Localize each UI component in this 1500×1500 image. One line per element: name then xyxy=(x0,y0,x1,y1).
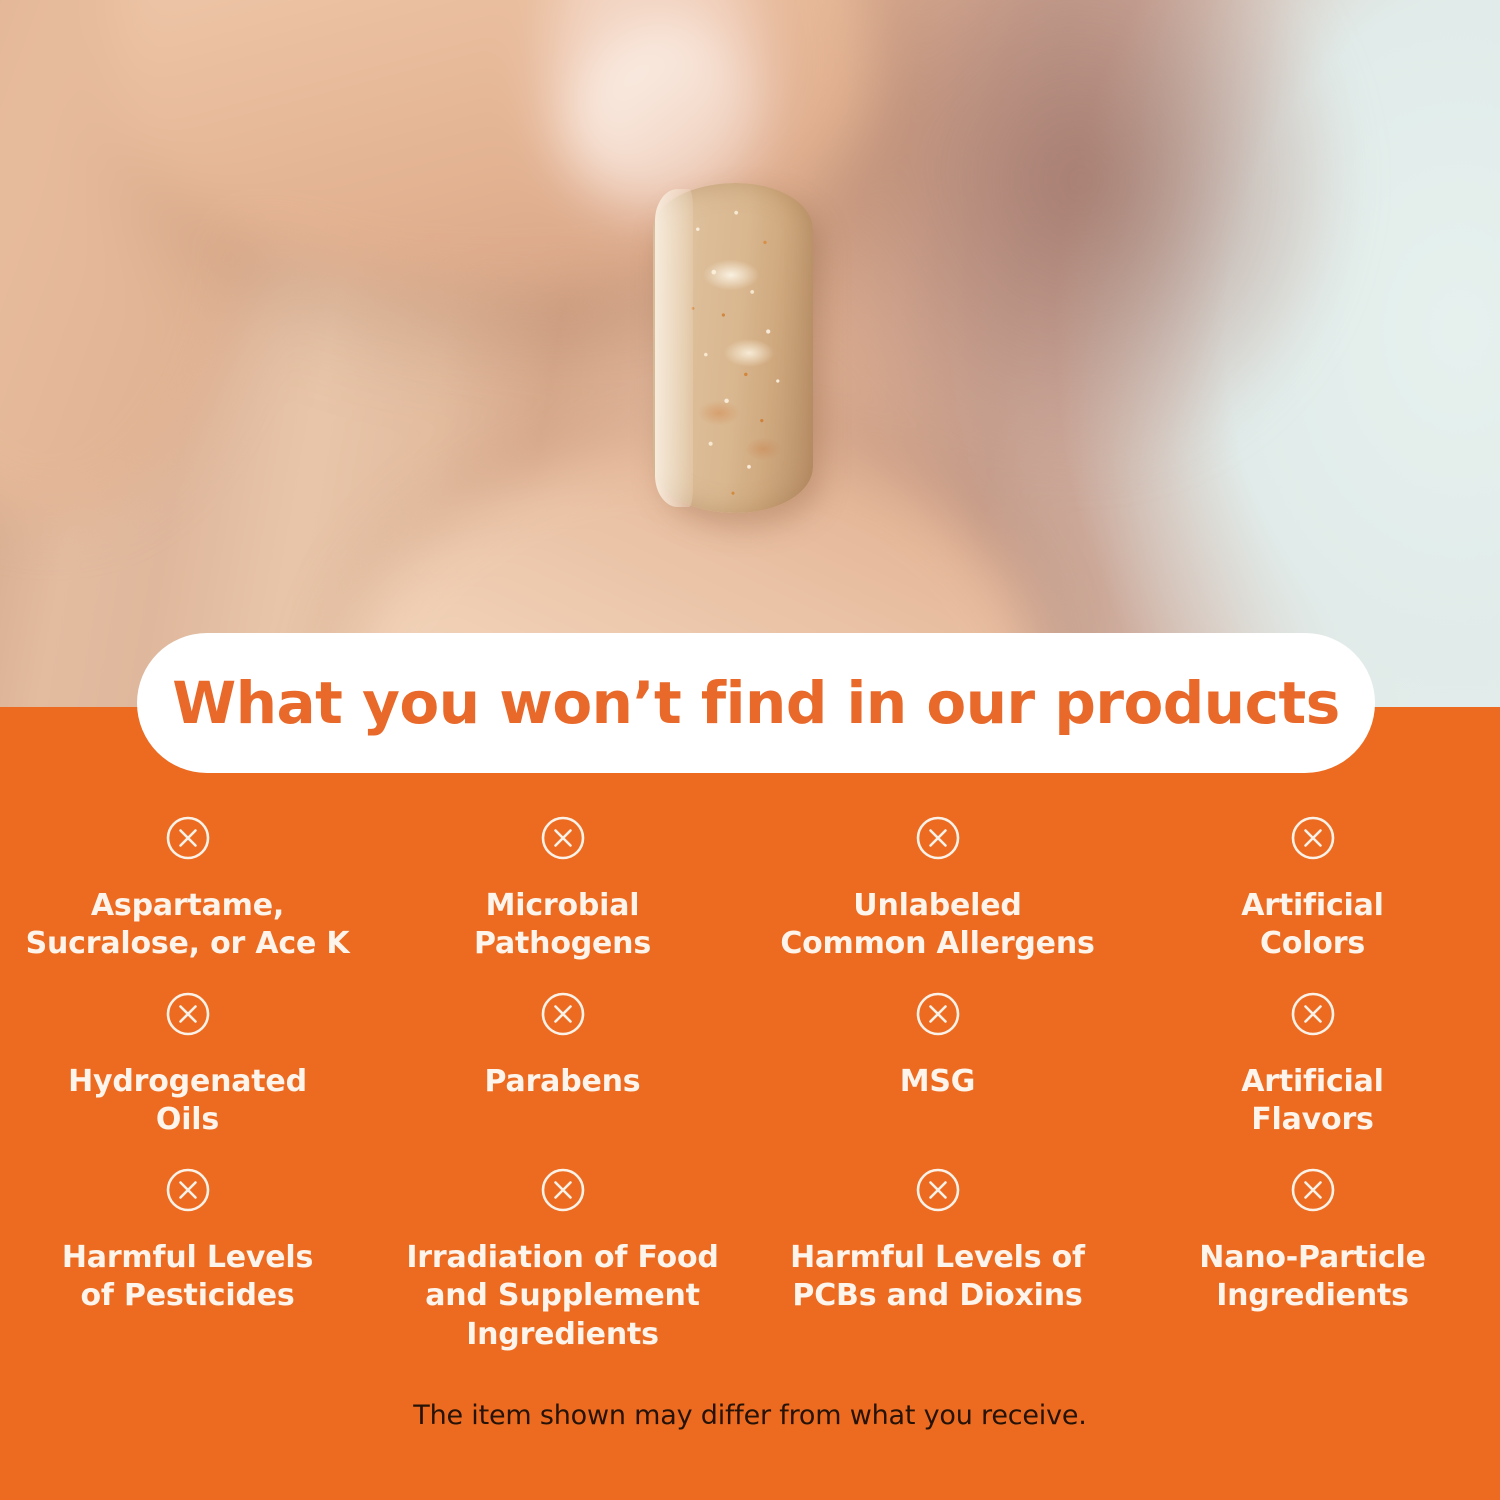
exclusion-item: Artificial Colors xyxy=(1125,815,1500,991)
exclusion-item: Artificial Flavors xyxy=(1125,991,1500,1167)
exclusion-label: Harmful Levels of PCBs and Dioxins xyxy=(790,1239,1085,1316)
circle-x-icon xyxy=(540,991,586,1037)
exclusion-label: Artificial Colors xyxy=(1241,887,1384,964)
exclusion-label: Aspartame, Sucralose, or Ace K xyxy=(26,887,350,964)
page-title: What you won’t find in our products xyxy=(172,674,1339,732)
circle-x-icon xyxy=(540,815,586,861)
exclusion-label: Microbial Pathogens xyxy=(474,887,651,964)
headline-banner: What you won’t find in our products xyxy=(137,633,1375,773)
circle-x-icon xyxy=(915,1167,961,1213)
circle-x-icon xyxy=(165,991,211,1037)
exclusion-item: Harmful Levels of PCBs and Dioxins xyxy=(750,1167,1125,1343)
exclusion-label: Parabens xyxy=(485,1063,641,1101)
circle-x-icon xyxy=(915,815,961,861)
circle-x-icon xyxy=(915,991,961,1037)
circle-x-icon xyxy=(165,1167,211,1213)
exclusions-grid: Aspartame, Sucralose, or Ace K Microbial… xyxy=(0,815,1500,1343)
exclusion-item: MSG xyxy=(750,991,1125,1167)
title-emphasis: won’t xyxy=(499,669,681,737)
exclusion-item: Hydrogenated Oils xyxy=(0,991,375,1167)
exclusion-label: Unlabeled Common Allergens xyxy=(780,887,1094,964)
exclusion-label: Artificial Flavors xyxy=(1241,1063,1384,1140)
circle-x-icon xyxy=(1290,991,1336,1037)
title-part-2: find in our products xyxy=(681,669,1340,737)
exclusion-label: Nano-Particle Ingredients xyxy=(1199,1239,1425,1316)
circle-x-icon xyxy=(165,815,211,861)
title-part-1: What you xyxy=(172,669,499,737)
circle-x-icon xyxy=(1290,815,1336,861)
exclusion-item: Unlabeled Common Allergens xyxy=(750,815,1125,991)
exclusion-item: Parabens xyxy=(375,991,750,1167)
product-photo xyxy=(0,0,1500,712)
background-bokeh xyxy=(820,0,1340,460)
exclusion-label: MSG xyxy=(900,1063,975,1101)
exclusion-item: Aspartame, Sucralose, or Ace K xyxy=(0,815,375,991)
disclaimer-note: The item shown may differ from what you … xyxy=(0,1400,1500,1431)
exclusion-item: Irradiation of Food and Supplement Ingre… xyxy=(375,1167,750,1343)
exclusion-label: Hydrogenated Oils xyxy=(68,1063,307,1140)
circle-x-icon xyxy=(540,1167,586,1213)
circle-x-icon xyxy=(1290,1167,1336,1213)
exclusion-label: Irradiation of Food and Supplement Ingre… xyxy=(406,1239,718,1354)
tablet-pill xyxy=(653,183,813,513)
tablet-edge-highlight xyxy=(655,189,693,507)
exclusion-item: Nano-Particle Ingredients xyxy=(1125,1167,1500,1343)
exclusion-item: Microbial Pathogens xyxy=(375,815,750,991)
exclusions-panel: Aspartame, Sucralose, or Ace K Microbial… xyxy=(0,707,1500,1500)
exclusion-item: Harmful Levels of Pesticides xyxy=(0,1167,375,1343)
exclusion-label: Harmful Levels of Pesticides xyxy=(62,1239,313,1316)
